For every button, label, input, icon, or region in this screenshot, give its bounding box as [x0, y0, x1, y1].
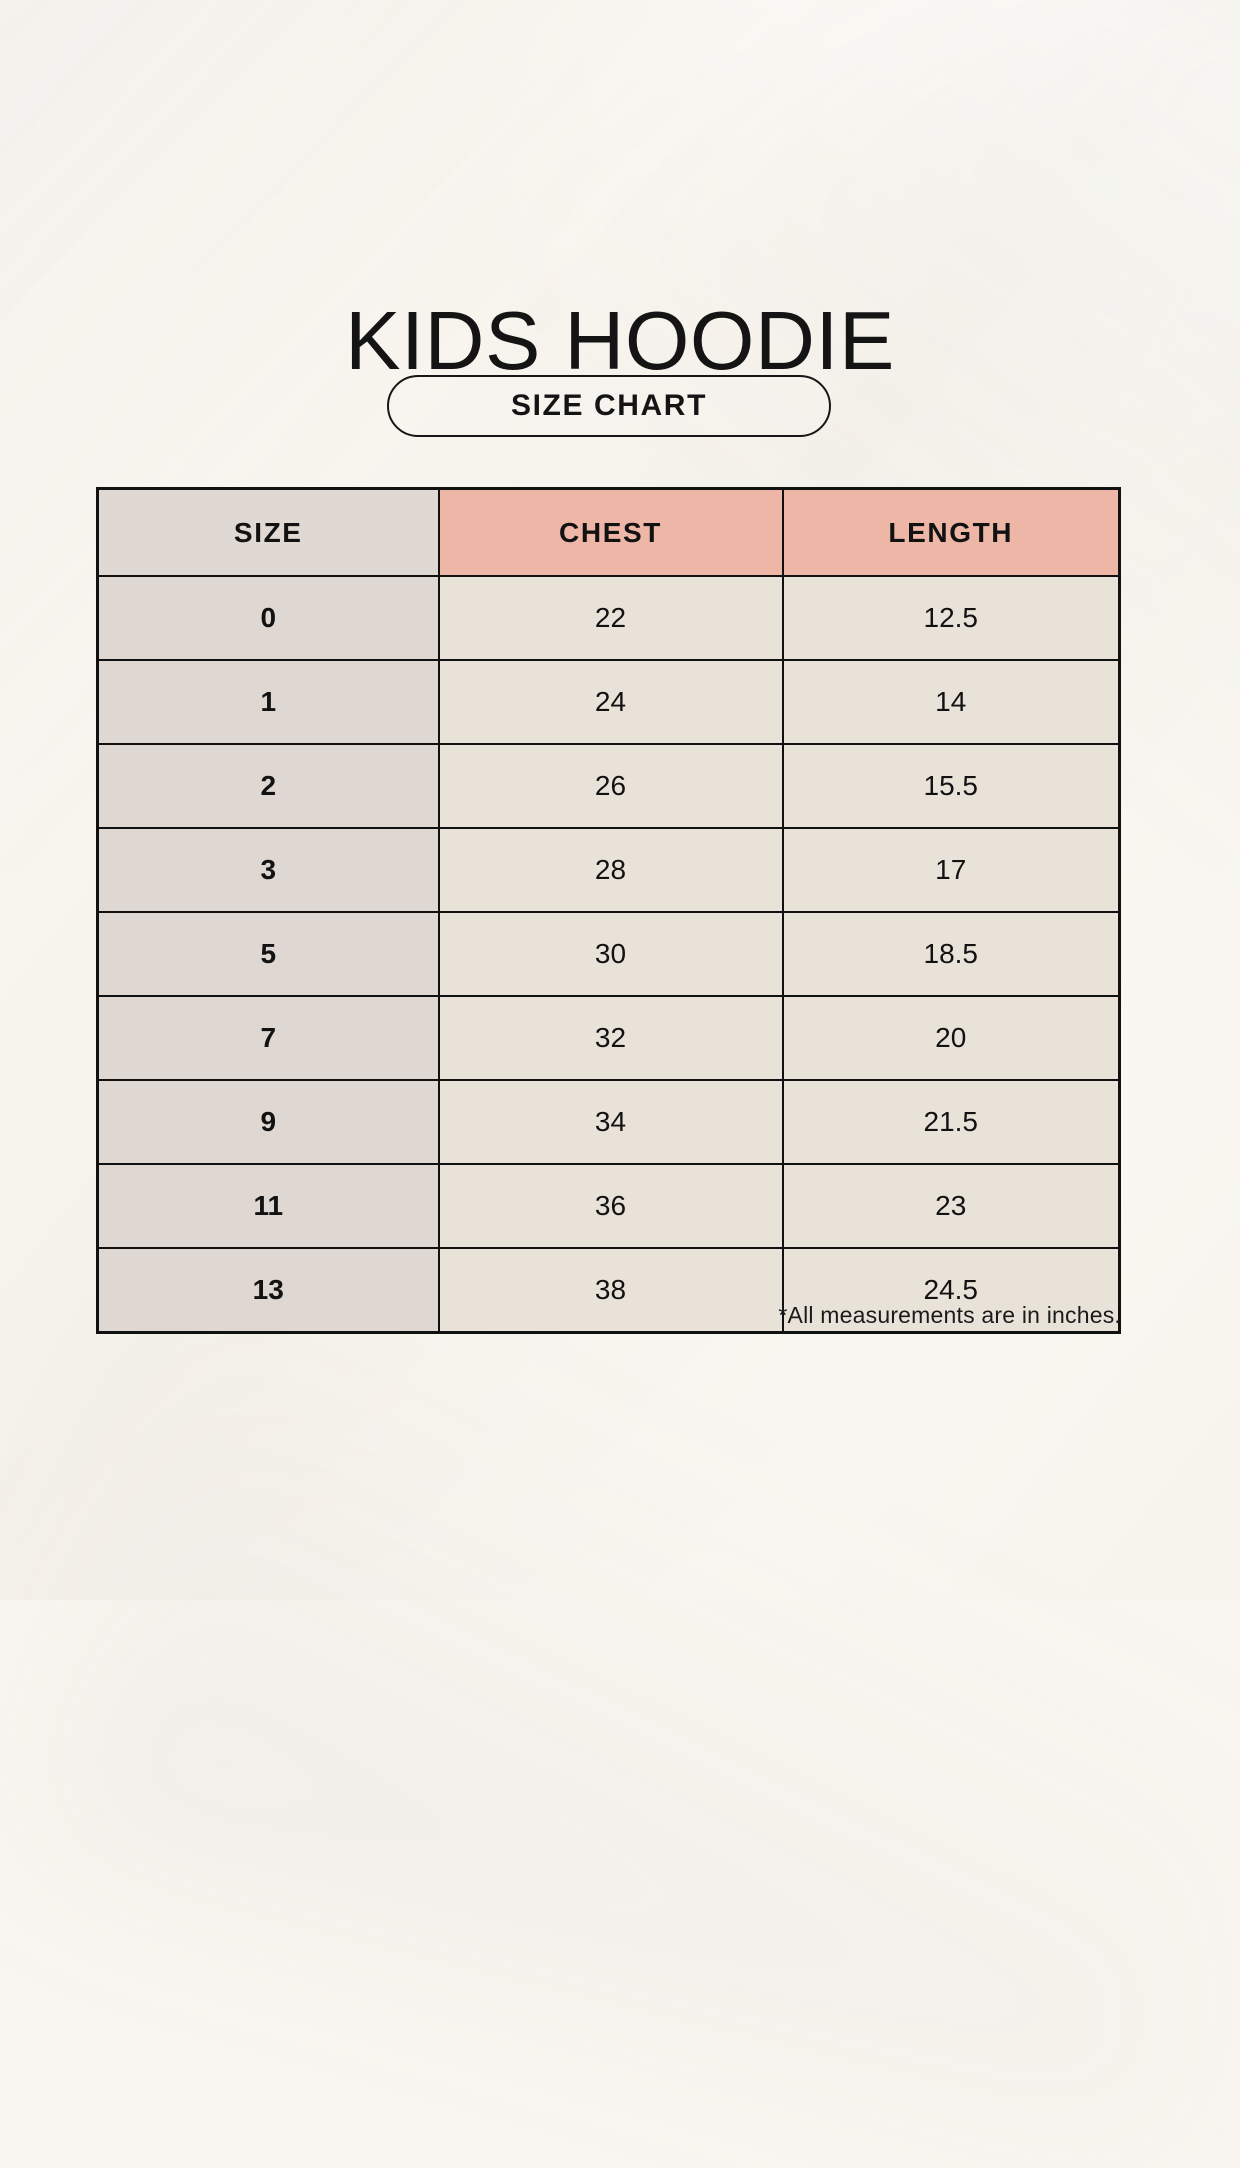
table-row: 7 32 20 — [98, 996, 1120, 1080]
table-header-row: SIZE CHEST LENGTH — [98, 489, 1120, 577]
column-header-length: LENGTH — [783, 489, 1120, 577]
size-table-container: SIZE CHEST LENGTH 0 22 12.5 1 24 14 2 — [96, 487, 1121, 1334]
cell-chest: 28 — [439, 828, 783, 912]
column-header-chest: CHEST — [439, 489, 783, 577]
size-table-head: SIZE CHEST LENGTH — [98, 489, 1120, 577]
size-chart-badge: SIZE CHART — [387, 375, 831, 437]
table-row: 11 36 23 — [98, 1164, 1120, 1248]
table-row: 5 30 18.5 — [98, 912, 1120, 996]
cell-length: 14 — [783, 660, 1120, 744]
size-chart-badge-label: SIZE CHART — [511, 389, 707, 423]
cell-size: 2 — [98, 744, 439, 828]
page-title: KIDS HOODIE — [0, 299, 1240, 382]
cell-size: 5 — [98, 912, 439, 996]
cell-size: 9 — [98, 1080, 439, 1164]
cell-length: 21.5 — [783, 1080, 1120, 1164]
cell-length: 15.5 — [783, 744, 1120, 828]
cell-length: 12.5 — [783, 576, 1120, 660]
cell-chest: 24 — [439, 660, 783, 744]
cell-chest: 32 — [439, 996, 783, 1080]
cell-chest: 26 — [439, 744, 783, 828]
cell-length: 18.5 — [783, 912, 1120, 996]
cell-size: 1 — [98, 660, 439, 744]
table-row: 3 28 17 — [98, 828, 1120, 912]
cell-length: 20 — [783, 996, 1120, 1080]
cell-size: 7 — [98, 996, 439, 1080]
size-table: SIZE CHEST LENGTH 0 22 12.5 1 24 14 2 — [96, 487, 1121, 1334]
cell-size: 3 — [98, 828, 439, 912]
cell-size: 11 — [98, 1164, 439, 1248]
measurement-unit-note: *All measurements are in inches. — [96, 1302, 1121, 1329]
cell-chest: 34 — [439, 1080, 783, 1164]
size-table-body: 0 22 12.5 1 24 14 2 26 15.5 3 28 17 — [98, 576, 1120, 1333]
cell-chest: 36 — [439, 1164, 783, 1248]
size-chart-page: KIDS HOODIE SIZE CHART SIZE CHEST LENGTH… — [0, 0, 1240, 1600]
cell-length: 17 — [783, 828, 1120, 912]
table-row: 1 24 14 — [98, 660, 1120, 744]
cell-length: 23 — [783, 1164, 1120, 1248]
cell-chest: 30 — [439, 912, 783, 996]
cell-size: 0 — [98, 576, 439, 660]
table-row: 2 26 15.5 — [98, 744, 1120, 828]
table-row: 0 22 12.5 — [98, 576, 1120, 660]
cell-chest: 22 — [439, 576, 783, 660]
table-row: 9 34 21.5 — [98, 1080, 1120, 1164]
column-header-size: SIZE — [98, 489, 439, 577]
